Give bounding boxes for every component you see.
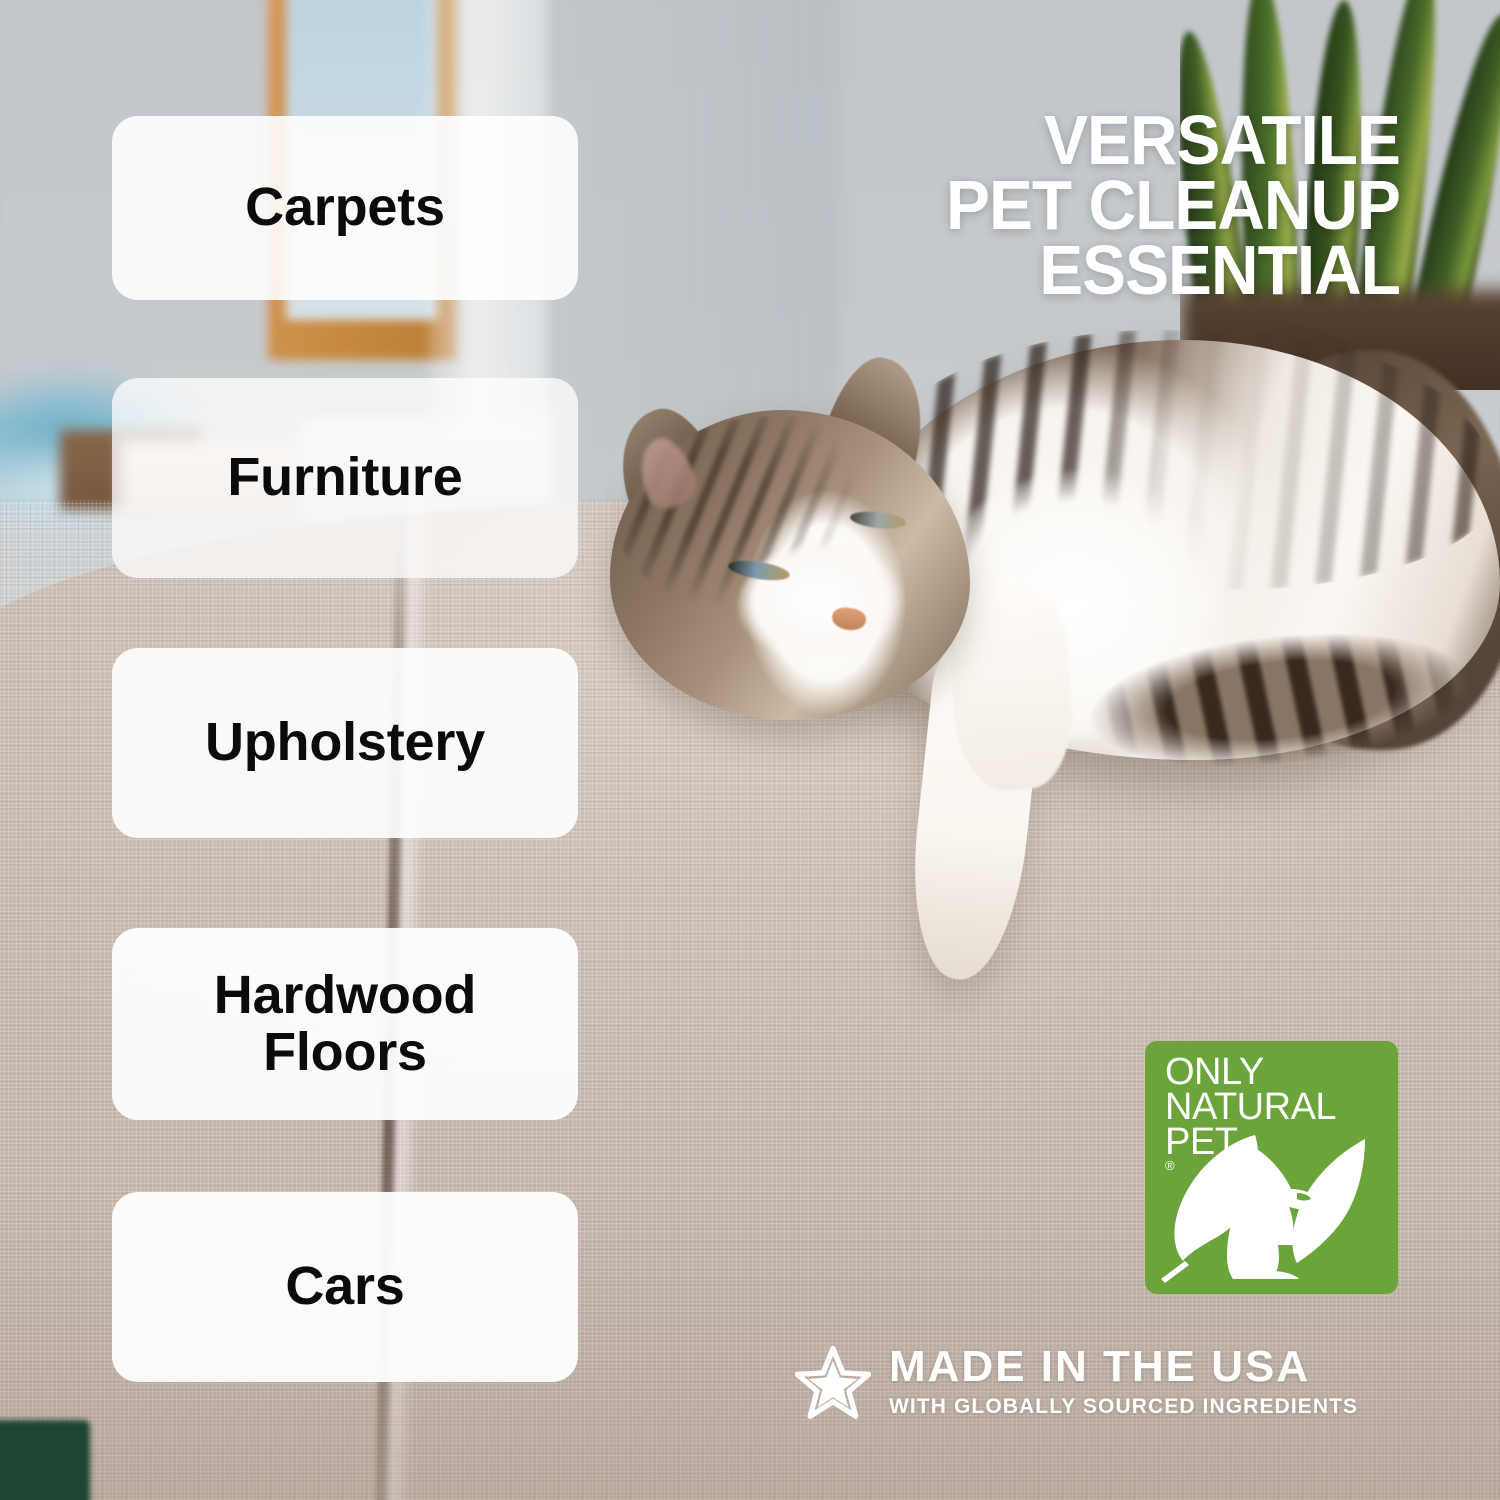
made-in-usa-badge: MADE IN THE USA WITH GLOBALLY SOURCED IN… — [795, 1336, 1405, 1428]
surface-pill-label: Hardwood Floors — [214, 967, 476, 1081]
star-outline-icon — [795, 1344, 871, 1420]
cat-muzzle — [738, 542, 918, 672]
product-marketing-image: VERSATILE PET CLEANUP ESSENTIAL Carpets … — [0, 0, 1500, 1500]
surface-pill-cars: Cars — [112, 1192, 578, 1382]
logo-line-2: NATURAL — [1165, 1090, 1388, 1125]
logo-line-1: ONLY — [1165, 1055, 1388, 1090]
surface-pill-upholstery: Upholstery — [112, 648, 578, 838]
made-in-usa-text: MADE IN THE USA WITH GLOBALLY SOURCED IN… — [889, 1345, 1358, 1419]
surface-pill-label: Upholstery — [205, 714, 485, 771]
dark-green-corner-object — [0, 1420, 90, 1500]
headline-line-1: VERSATILE — [780, 108, 1400, 173]
made-in-usa-title: MADE IN THE USA — [889, 1345, 1358, 1389]
sleeping-cat — [600, 330, 1500, 1050]
surface-pill-label: Furniture — [227, 449, 462, 506]
surface-pill-carpets: Carpets — [112, 116, 578, 300]
leaf-dog-cat-icon — [1159, 1133, 1385, 1283]
surface-pill-label: Carpets — [245, 179, 445, 236]
headline-line-2: PET CLEANUP — [780, 173, 1400, 238]
headline: VERSATILE PET CLEANUP ESSENTIAL — [780, 108, 1400, 303]
surface-pill-furniture: Furniture — [112, 378, 578, 578]
surface-pill-label: Cars — [285, 1258, 404, 1315]
headline-line-3: ESSENTIAL — [780, 238, 1400, 303]
surface-pill-hardwood-floors: Hardwood Floors — [112, 928, 578, 1120]
only-natural-pet-logo: ONLY NATURAL PET® — [1145, 1041, 1398, 1294]
made-in-usa-subtitle: WITH GLOBALLY SOURCED INGREDIENTS — [889, 1395, 1358, 1419]
